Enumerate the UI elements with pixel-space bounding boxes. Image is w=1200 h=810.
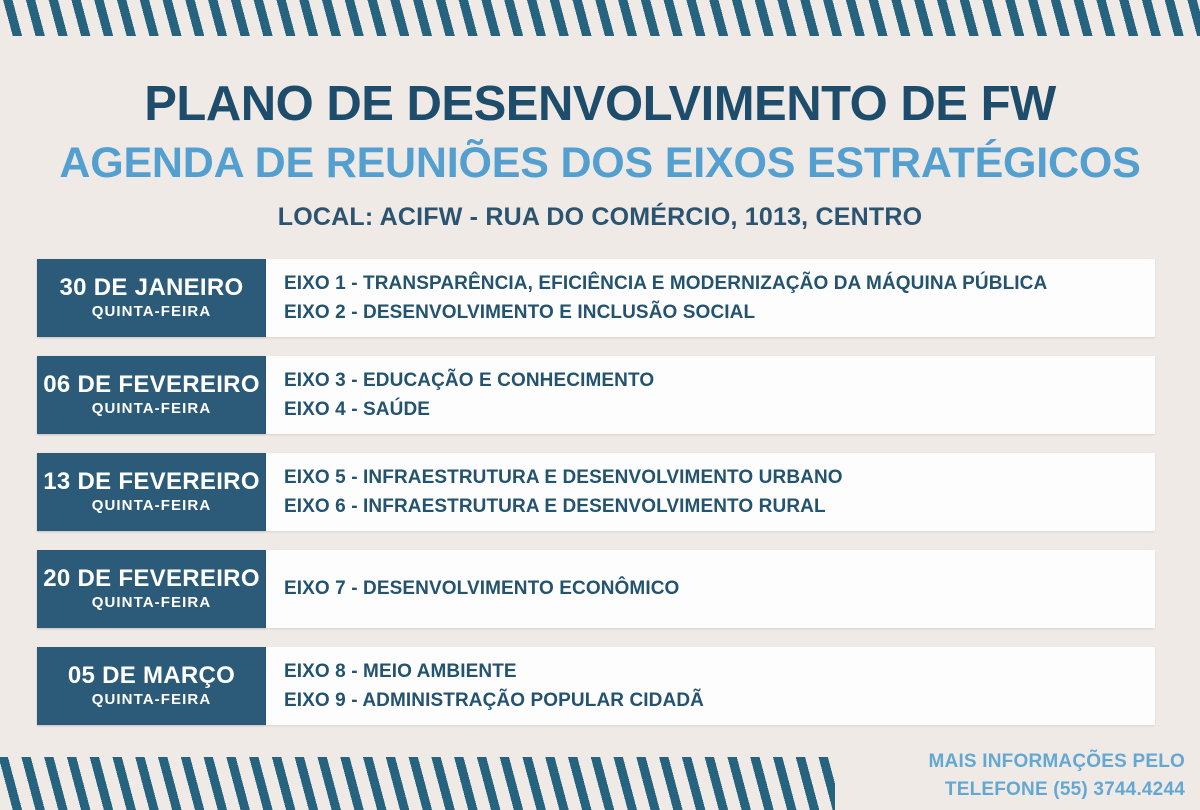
date-day-label: 06 DE FEVEREIRO bbox=[43, 372, 260, 397]
contact-info: MAIS INFORMAÇÕES PELO TELEFONE (55) 3744… bbox=[855, 748, 1185, 803]
bottom-stripe-decoration bbox=[0, 757, 835, 810]
agenda-list: 30 DE JANEIROQUINTA-FEIRAEIXO 1 - TRANSP… bbox=[37, 259, 1155, 744]
eixo-line: EIXO 5 - INFRAESTRUTURA E DESENVOLVIMENT… bbox=[284, 463, 1155, 492]
eixo-line: EIXO 6 - INFRAESTRUTURA E DESENVOLVIMENT… bbox=[284, 492, 1155, 521]
date-day-label: 13 DE FEVEREIRO bbox=[43, 469, 260, 494]
page-subtitle: AGENDA DE REUNIÕES DOS EIXOS ESTRATÉGICO… bbox=[0, 130, 1200, 186]
date-weekday-label: QUINTA-FEIRA bbox=[92, 688, 212, 709]
agenda-row: 30 DE JANEIROQUINTA-FEIRAEIXO 1 - TRANSP… bbox=[37, 259, 1155, 337]
date-weekday-label: QUINTA-FEIRA bbox=[92, 397, 212, 418]
eixo-line: EIXO 7 - DESENVOLVIMENTO ECONÔMICO bbox=[284, 574, 1155, 603]
date-block: 05 DE MARÇOQUINTA-FEIRA bbox=[37, 647, 266, 725]
contact-line-2: TELEFONE (55) 3744.4244 bbox=[855, 776, 1185, 804]
eixo-line: EIXO 2 - DESENVOLVIMENTO E INCLUSÃO SOCI… bbox=[284, 298, 1155, 327]
date-weekday-label: QUINTA-FEIRA bbox=[92, 300, 212, 321]
eixo-line: EIXO 8 - MEIO AMBIENTE bbox=[284, 657, 1155, 686]
date-day-label: 20 DE FEVEREIRO bbox=[43, 566, 260, 591]
eixo-panel: EIXO 7 - DESENVOLVIMENTO ECONÔMICO bbox=[266, 550, 1155, 628]
eixo-line: EIXO 4 - SAÚDE bbox=[284, 395, 1155, 424]
eixo-panel: EIXO 8 - MEIO AMBIENTEEIXO 9 - ADMINISTR… bbox=[266, 647, 1155, 725]
agenda-row: 06 DE FEVEREIROQUINTA-FEIRAEIXO 3 - EDUC… bbox=[37, 356, 1155, 434]
date-weekday-label: QUINTA-FEIRA bbox=[92, 494, 212, 515]
eixo-panel: EIXO 3 - EDUCAÇÃO E CONHECIMENTOEIXO 4 -… bbox=[266, 356, 1155, 434]
date-block: 20 DE FEVEREIROQUINTA-FEIRA bbox=[37, 550, 266, 628]
poster-header: PLANO DE DESENVOLVIMENTO DE FW AGENDA DE… bbox=[0, 36, 1200, 232]
eixo-line: EIXO 3 - EDUCAÇÃO E CONHECIMENTO bbox=[284, 366, 1155, 395]
date-day-label: 30 DE JANEIRO bbox=[60, 275, 244, 300]
eixo-line: EIXO 9 - ADMINISTRAÇÃO POPULAR CIDADÃ bbox=[284, 686, 1155, 715]
top-stripe-decoration bbox=[0, 0, 1200, 36]
date-block: 06 DE FEVEREIROQUINTA-FEIRA bbox=[37, 356, 266, 434]
date-weekday-label: QUINTA-FEIRA bbox=[92, 591, 212, 612]
date-day-label: 05 DE MARÇO bbox=[68, 663, 235, 688]
eixo-panel: EIXO 1 - TRANSPARÊNCIA, EFICIÊNCIA E MOD… bbox=[266, 259, 1155, 337]
date-block: 30 DE JANEIROQUINTA-FEIRA bbox=[37, 259, 266, 337]
agenda-row: 05 DE MARÇOQUINTA-FEIRAEIXO 8 - MEIO AMB… bbox=[37, 647, 1155, 725]
eixo-panel: EIXO 5 - INFRAESTRUTURA E DESENVOLVIMENT… bbox=[266, 453, 1155, 531]
location-line: LOCAL: ACIFW - RUA DO COMÉRCIO, 1013, CE… bbox=[0, 186, 1200, 232]
date-block: 13 DE FEVEREIROQUINTA-FEIRA bbox=[37, 453, 266, 531]
agenda-row: 13 DE FEVEREIROQUINTA-FEIRAEIXO 5 - INFR… bbox=[37, 453, 1155, 531]
contact-line-1: MAIS INFORMAÇÕES PELO bbox=[855, 748, 1185, 776]
eixo-line: EIXO 1 - TRANSPARÊNCIA, EFICIÊNCIA E MOD… bbox=[284, 269, 1155, 298]
page-title: PLANO DE DESENVOLVIMENTO DE FW bbox=[0, 36, 1200, 130]
agenda-row: 20 DE FEVEREIROQUINTA-FEIRAEIXO 7 - DESE… bbox=[37, 550, 1155, 628]
